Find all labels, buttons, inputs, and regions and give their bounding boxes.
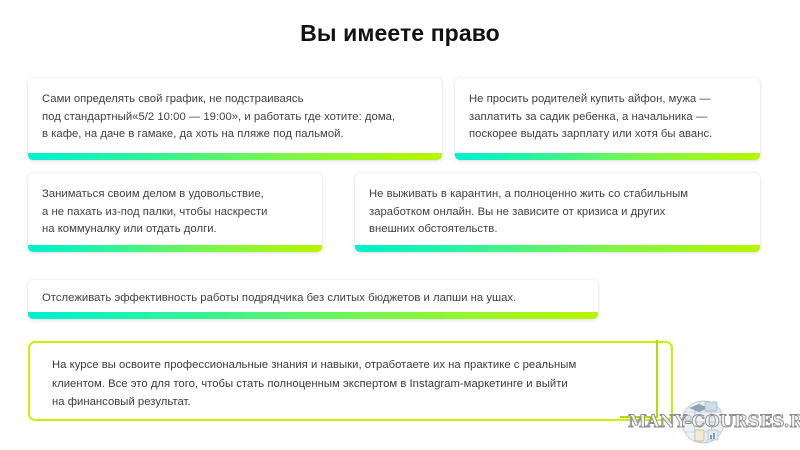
gradient-accent-bar: [455, 153, 760, 160]
benefit-card: Не выживать в карантин, а полноценно жит…: [355, 173, 760, 252]
gradient-accent-bar: [355, 245, 760, 252]
benefit-card-text: Заниматься своим делом в удовольствие, а…: [42, 186, 312, 239]
gradient-accent-bar: [28, 312, 598, 319]
globe-education-icon: [675, 394, 731, 450]
gradient-accent-bar: [28, 245, 322, 252]
benefit-card: Заниматься своим делом в удовольствие, а…: [28, 173, 322, 252]
benefit-card: Отслеживать эффективность работы подрядч…: [28, 280, 598, 319]
gradient-accent-bar: [28, 153, 442, 160]
benefit-card-text: Не выживать в карантин, а полноценно жит…: [369, 186, 750, 239]
benefit-card-text: Отслеживать эффективность работы подрядч…: [42, 290, 588, 308]
benefit-card: Сами определять свой график, не подстраи…: [28, 78, 442, 160]
benefit-card: Не просить родителей купить айфон, мужа …: [455, 78, 760, 160]
page-title: Вы имеете право: [0, 18, 800, 48]
summary-card: На курсе вы освоите профессиональные зна…: [28, 341, 673, 421]
summary-card-text: На курсе вы освоите профессиональные зна…: [52, 356, 655, 412]
benefit-card-text: Сами определять свой график, не подстраи…: [42, 91, 432, 144]
slide-canvas: Вы имеете право Сами определять свой гра…: [0, 0, 800, 450]
benefit-card-text: Не просить родителей купить айфон, мужа …: [469, 91, 750, 144]
